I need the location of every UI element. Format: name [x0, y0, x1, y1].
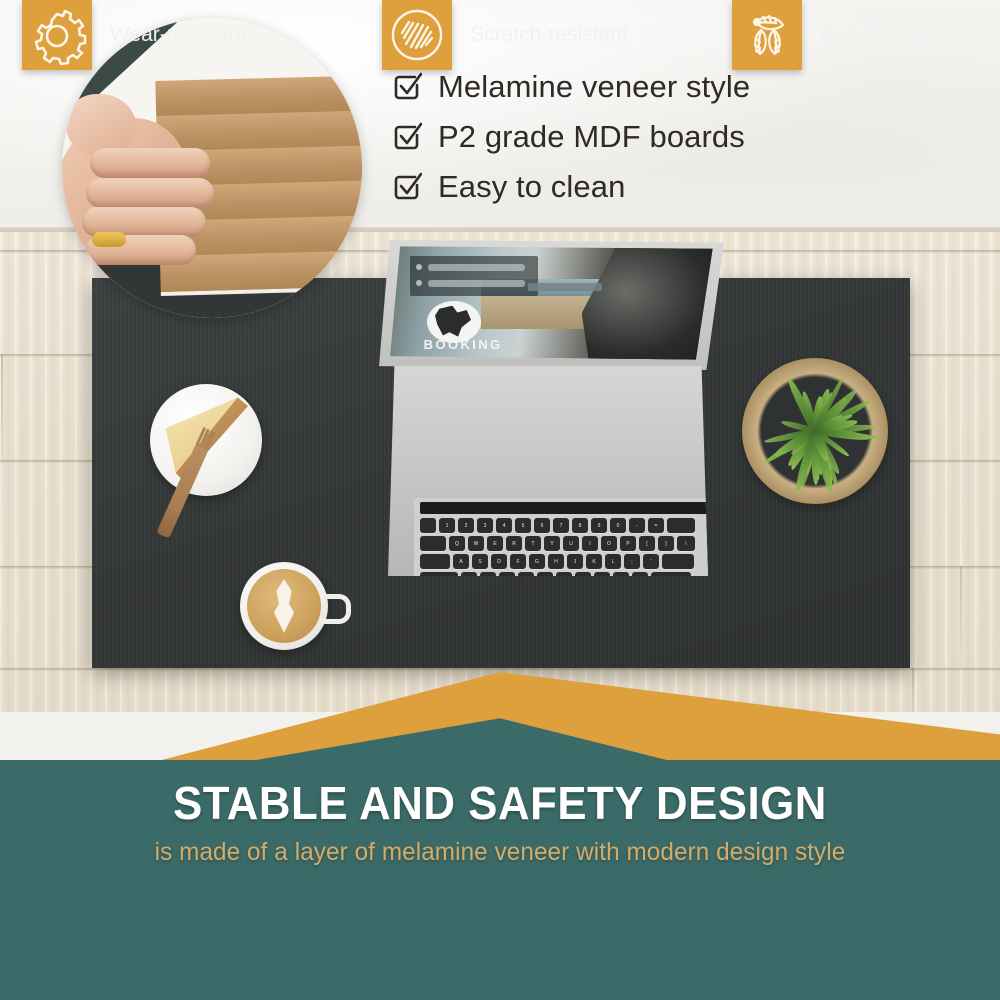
- keyboard-key[interactable]: [662, 554, 694, 569]
- keyboard-key[interactable]: 6: [534, 518, 550, 533]
- checkbox-checked-icon: [392, 122, 422, 152]
- keyboard-key[interactable]: D: [491, 554, 507, 569]
- keyboard-key[interactable]: Q: [449, 536, 465, 551]
- feature-label: Eco-friendly: [820, 23, 931, 47]
- eco-leaves-icon: [732, 0, 802, 70]
- keyboard-key[interactable]: [420, 536, 446, 551]
- keyboard-row: QWERTYUIOP[]\: [420, 536, 695, 551]
- wedding-ring: [92, 232, 126, 247]
- screen-booking-label: BOOKING: [424, 337, 503, 352]
- keyboard-key[interactable]: [420, 518, 436, 533]
- screen-button: [528, 283, 602, 291]
- cup-handle: [320, 594, 351, 624]
- keyboard-key[interactable]: ;: [624, 554, 640, 569]
- screen-input-line: [428, 280, 525, 287]
- keyboard-key[interactable]: -: [629, 518, 645, 533]
- gear-icon: [22, 0, 92, 70]
- keyboard-key[interactable]: 1: [439, 518, 455, 533]
- keyboard-key[interactable]: [667, 518, 695, 533]
- screen-field-icon: [416, 280, 422, 286]
- floor-plank-seam: [912, 668, 914, 712]
- keyboard-key[interactable]: I: [582, 536, 598, 551]
- keyboard-key[interactable]: [: [639, 536, 655, 551]
- keyboard-key[interactable]: E: [487, 536, 503, 551]
- floor-plank-seam: [0, 668, 1000, 671]
- keyboard-key[interactable]: 8: [572, 518, 588, 533]
- keyboard-key[interactable]: U: [563, 536, 579, 551]
- keyboard-key[interactable]: J: [567, 554, 583, 569]
- keyboard-key[interactable]: O: [601, 536, 617, 551]
- keyboard-key[interactable]: W: [468, 536, 484, 551]
- potted-grass-plant: [742, 358, 888, 504]
- page-subtitle: is made of a layer of melamine veneer wi…: [15, 838, 985, 867]
- keyboard-row: 1234567890-=: [420, 518, 695, 533]
- keyboard-key[interactable]: 9: [591, 518, 607, 533]
- keyboard-key[interactable]: ]: [658, 536, 674, 551]
- screen-field-icon: [416, 264, 422, 270]
- checklist-item: P2 grade MDF boards: [392, 112, 952, 162]
- product-marketing-image: BOOKING 1234567890-=QWERTYUIOP[]\ASDFGHJ…: [0, 0, 1000, 1000]
- laptop-touch-bar: [420, 502, 708, 514]
- checklist-item-label: Easy to clean: [438, 169, 625, 205]
- keyboard-key[interactable]: P: [620, 536, 636, 551]
- keyboard-key[interactable]: 2: [458, 518, 474, 533]
- floor-plank-seam: [960, 566, 962, 668]
- keyboard-key[interactable]: S: [472, 554, 488, 569]
- screen-rocks: [582, 244, 716, 362]
- feature-wear-resistant: Wear-resistant: [22, 0, 246, 70]
- checklist-item: Easy to clean: [392, 162, 952, 212]
- coffee-cup-latte-art: [240, 562, 328, 650]
- checklist-item-label: Melamine veneer style: [438, 69, 750, 105]
- keyboard-key[interactable]: F: [510, 554, 526, 569]
- keyboard-key[interactable]: ': [643, 554, 659, 569]
- laptop-base: 1234567890-=QWERTYUIOP[]\ASDFGHJKL;'ZXCV…: [388, 366, 708, 576]
- feature-scratch-resistant: Scratch-resistant: [382, 0, 628, 70]
- hand: [62, 104, 238, 280]
- laptop-screen: BOOKING: [380, 244, 716, 362]
- keyboard-key[interactable]: 4: [496, 518, 512, 533]
- feature-label: Wear-resistant: [110, 23, 246, 47]
- floor-plank-seam: [1, 354, 3, 460]
- keyboard-key[interactable]: L: [605, 554, 621, 569]
- keyboard-key[interactable]: K: [586, 554, 602, 569]
- keyboard-key[interactable]: A: [453, 554, 469, 569]
- keyboard-key[interactable]: 7: [553, 518, 569, 533]
- keyboard-key[interactable]: 0: [610, 518, 626, 533]
- keyboard-key[interactable]: 3: [477, 518, 493, 533]
- feature-eco-friendly: Eco-friendly: [732, 0, 931, 70]
- page-title: STABLE AND SAFETY DESIGN: [25, 776, 975, 830]
- finger: [86, 178, 214, 208]
- keyboard-key[interactable]: \: [677, 536, 695, 551]
- screen-login-panel: [410, 256, 538, 296]
- cup-crema: [247, 569, 321, 643]
- checkbox-checked-icon: [392, 72, 422, 102]
- keyboard-row: ASDFGHJKL;': [420, 554, 694, 569]
- keyboard-key[interactable]: T: [525, 536, 541, 551]
- checkbox-checked-icon: [392, 172, 422, 202]
- screen-input-line: [428, 264, 525, 271]
- laptop: BOOKING 1234567890-=QWERTYUIOP[]\ASDFGHJ…: [372, 240, 724, 580]
- keyboard-key[interactable]: [420, 554, 450, 569]
- keyboard-key[interactable]: G: [529, 554, 545, 569]
- keyboard-key[interactable]: 5: [515, 518, 531, 533]
- keyboard-key[interactable]: R: [506, 536, 522, 551]
- feature-checklist: Melamine veneer style P2 grade MDF board…: [392, 62, 952, 212]
- scratch-circle-icon: [382, 0, 452, 70]
- laptop-lid: BOOKING: [372, 240, 724, 370]
- keyboard-key[interactable]: Y: [544, 536, 560, 551]
- keyboard-key[interactable]: =: [648, 518, 664, 533]
- latte-art-leaf: [263, 579, 305, 633]
- finger: [90, 148, 210, 178]
- feature-label: Scratch-resistant: [470, 23, 628, 47]
- keyboard-key[interactable]: H: [548, 554, 564, 569]
- checklist-item-label: P2 grade MDF boards: [438, 119, 745, 155]
- thumb: [66, 94, 136, 156]
